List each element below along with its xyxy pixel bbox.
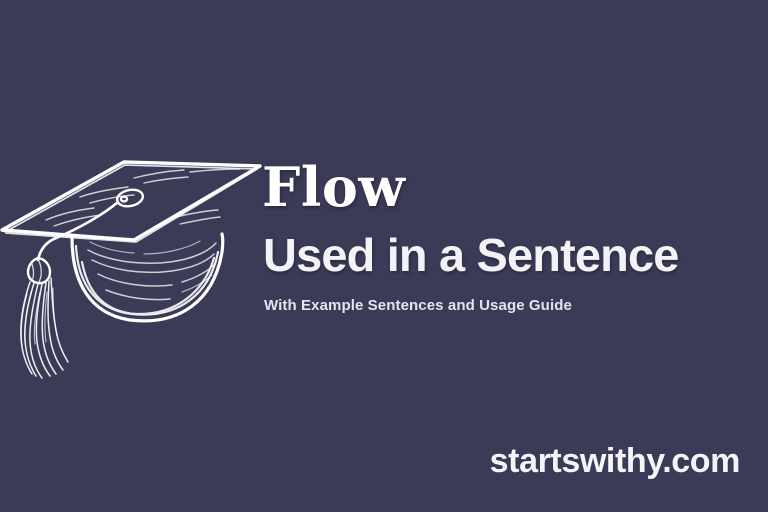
word-title: Flow [262, 158, 752, 216]
social-card: Flow Used in a Sentence With Example Sen… [0, 0, 768, 512]
headline-block: Flow Used in a Sentence With Example Sen… [262, 158, 752, 316]
brand-wordmark: startswithy.com [490, 442, 740, 480]
page-title: Used in a Sentence [263, 230, 762, 280]
subtitle: With Example Sentences and Usage Guide [264, 296, 752, 316]
graduation-cap-icon [0, 142, 274, 377]
